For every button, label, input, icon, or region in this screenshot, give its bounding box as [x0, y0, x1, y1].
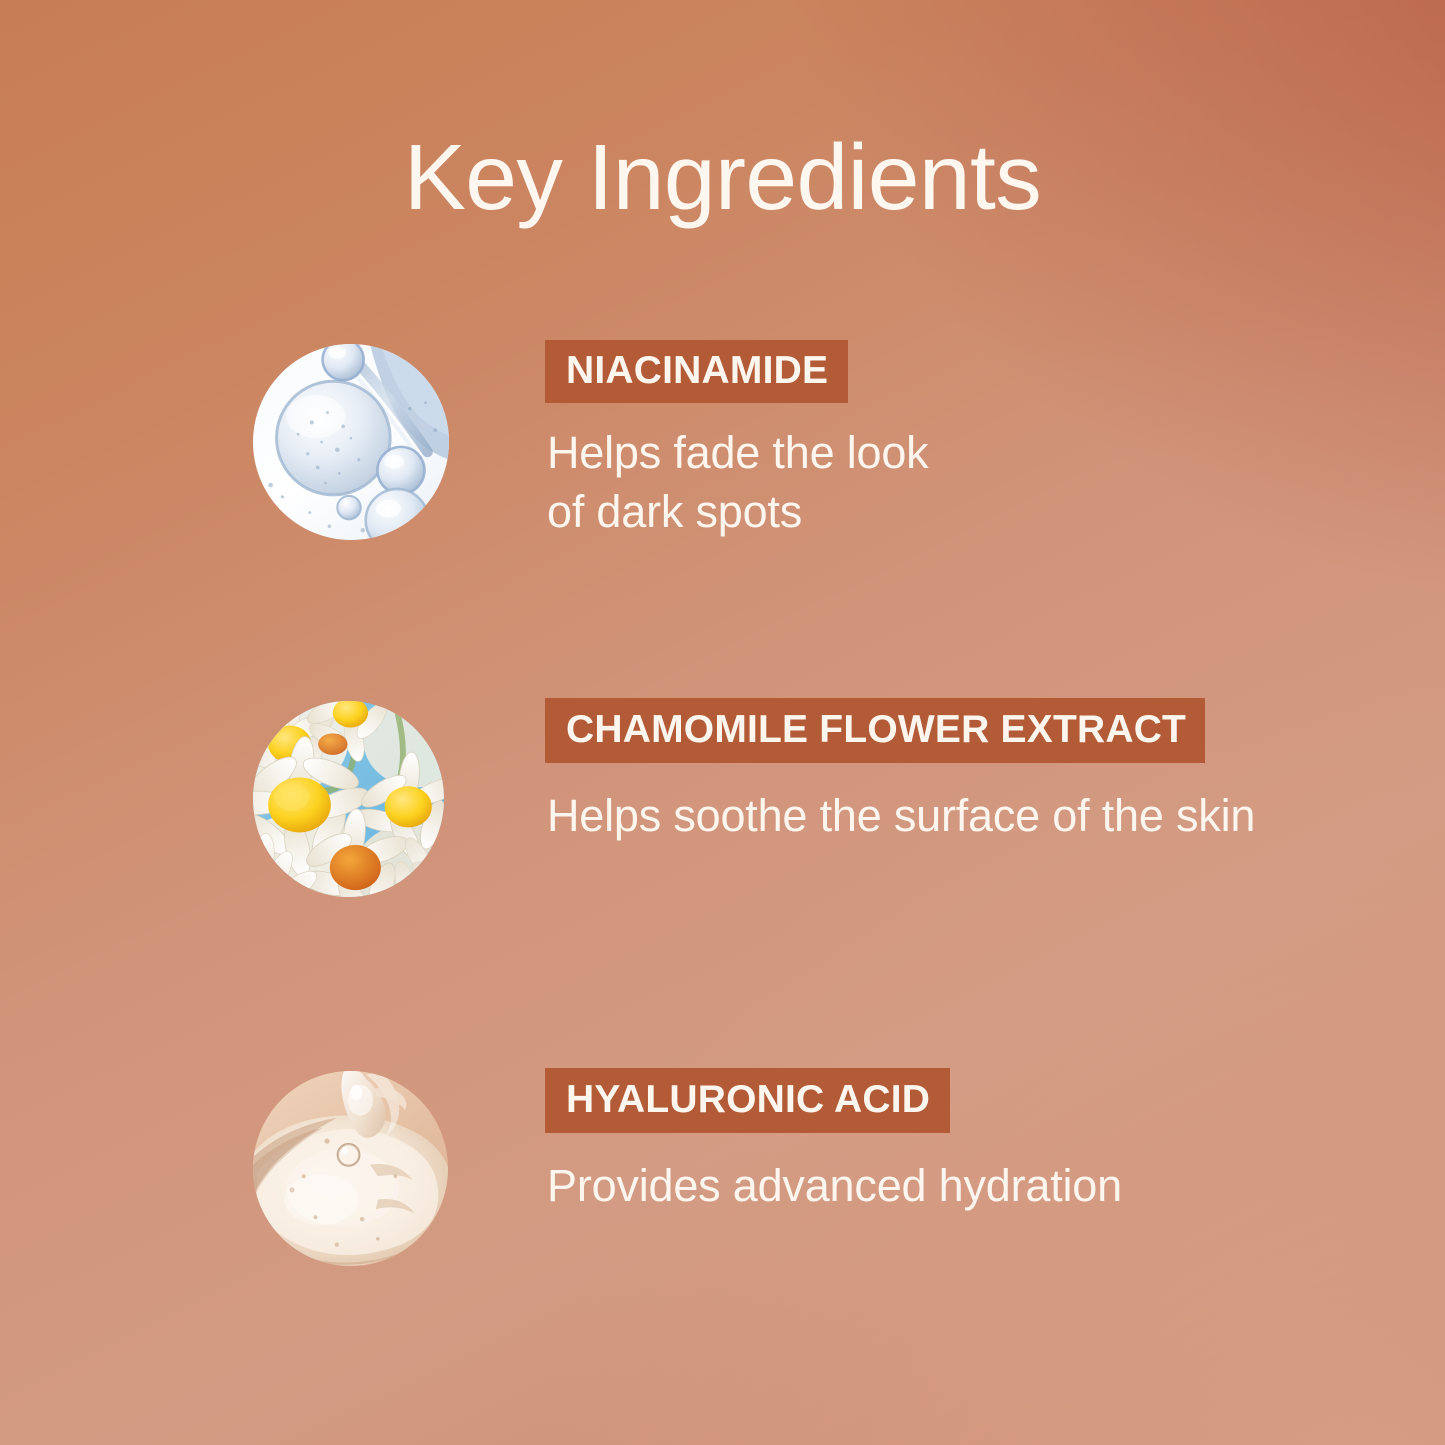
- chamomile-flowers-icon: [253, 701, 444, 897]
- water-bubbles-icon: [253, 344, 449, 540]
- ingredient-name-badge: HYALURONIC ACID: [545, 1068, 950, 1133]
- ingredient-row: CHAMOMILE FLOWER EXTRACT Helps soothe th…: [0, 698, 1445, 908]
- ingredient-text: HYALURONIC ACID Provides advanced hydrat…: [545, 1068, 1405, 1216]
- ingredient-text: CHAMOMILE FLOWER EXTRACT Helps soothe th…: [545, 698, 1405, 846]
- ingredient-text: NIACINAMIDE Helps fade the look of dark …: [545, 340, 1405, 541]
- ingredient-description: Helps fade the look of dark spots: [547, 424, 1405, 541]
- ingredient-name-badge: CHAMOMILE FLOWER EXTRACT: [545, 698, 1205, 763]
- ingredient-description: Helps soothe the surface of the skin: [547, 787, 1405, 846]
- page-title: Key Ingredients: [0, 131, 1445, 224]
- ingredient-row: NIACINAMIDE Helps fade the look of dark …: [0, 340, 1445, 550]
- ingredient-row: HYALURONIC ACID Provides advanced hydrat…: [0, 1068, 1445, 1278]
- ingredient-name-badge: NIACINAMIDE: [545, 340, 848, 403]
- serum-gel-texture-icon: [253, 1071, 448, 1266]
- ingredient-description: Provides advanced hydration: [547, 1157, 1405, 1216]
- key-ingredients-poster: Key Ingredients: [0, 0, 1445, 1445]
